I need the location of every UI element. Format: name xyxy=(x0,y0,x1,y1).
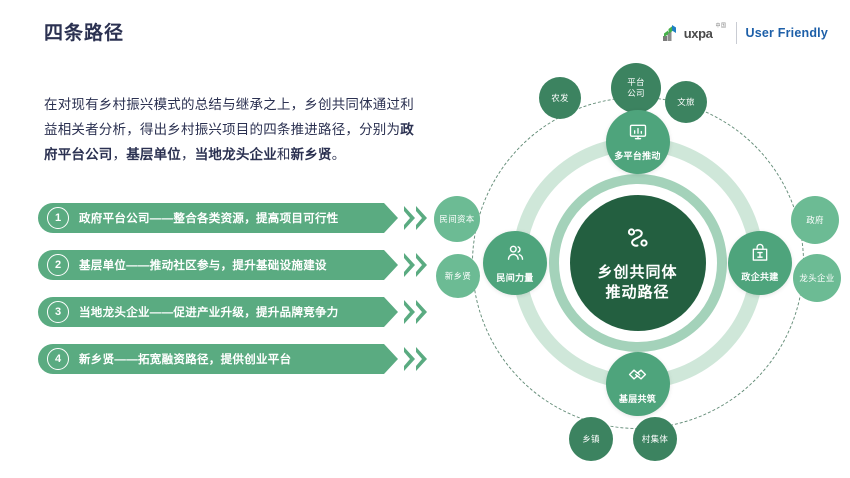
steps-list: 1 政府平台公司——整合各类资源，提高项目可行性 2 基层单位——推动社区参与，… xyxy=(38,203,430,391)
uxpa-wordmark: uxpa xyxy=(684,27,713,40)
step-number-badge: 1 xyxy=(47,207,69,229)
uxpa-cn-text: 中国 xyxy=(715,24,726,30)
pillar-minjian-liliang[interactable]: 民间力量 xyxy=(483,231,547,295)
pillar-label: 基层共筑 xyxy=(619,392,656,405)
diagram-core[interactable]: 乡创共同体 推动路径 xyxy=(570,195,706,331)
node-label: 农发 xyxy=(551,93,569,104)
step-bar[interactable]: 2 基层单位——推动社区参与，提升基础设施建设 xyxy=(38,250,384,280)
node-wenlv[interactable]: 文旅 xyxy=(665,81,707,123)
briefcase-qi-icon xyxy=(750,243,770,268)
intro-bold-2: 基层单位 xyxy=(126,147,181,162)
node-longtou-qiye[interactable]: 龙头企业 xyxy=(793,254,841,302)
core-label-line1: 乡创共同体 xyxy=(597,264,677,281)
network-link-icon xyxy=(623,224,653,259)
pillar-label: 多平台推动 xyxy=(614,149,661,162)
step-chevrons-icon xyxy=(404,347,427,371)
pillar-zhengqi-gongjian[interactable]: 政企共建 xyxy=(728,231,792,295)
brand-divider xyxy=(736,22,737,44)
node-zhengfu[interactable]: 政府 xyxy=(791,196,839,244)
step-bar[interactable]: 4 新乡贤——拓宽融资路径，提供创业平台 xyxy=(38,344,384,374)
handshake-icon xyxy=(627,364,648,390)
step-bar[interactable]: 3 当地龙头企业——促进产业升级，提升品牌竞争力 xyxy=(38,297,384,327)
pillar-label: 民间力量 xyxy=(496,271,533,284)
intro-bold-4: 新乡贤 xyxy=(291,147,332,162)
node-xinxiangxian[interactable]: 新乡贤 xyxy=(436,254,480,298)
intro-paragraph: 在对现有乡村振兴模式的总结与继承之上，乡创共同体通过利益相关者分析，得出乡村振兴… xyxy=(44,93,424,168)
step-label: 政府平台公司——整合各类资源，提高项目可行性 xyxy=(79,210,339,226)
uxpa-blocks-logo-icon xyxy=(661,23,681,43)
people-group-icon xyxy=(505,243,526,269)
step-number-badge: 2 xyxy=(47,254,69,276)
node-label: 乡镇 xyxy=(582,434,600,445)
step-item-4[interactable]: 4 新乡贤——拓宽融资路径，提供创业平台 xyxy=(38,344,430,374)
step-label: 新乡贤——拓宽融资路径，提供创业平台 xyxy=(79,351,291,367)
step-number-badge: 4 xyxy=(47,348,69,370)
chart-monitor-icon xyxy=(628,122,648,147)
intro-sep-2: ， xyxy=(181,147,195,162)
pillar-label: 政企共建 xyxy=(741,270,778,283)
circular-diagram: 农发 平台 公司 文旅 政府 龙头企业 村集体 乡镇 新乡贤 民间资本 xyxy=(425,48,850,478)
intro-line3-prefix: 为 xyxy=(387,122,401,137)
step-chevrons-icon xyxy=(404,253,427,277)
node-label: 政府 xyxy=(806,215,824,226)
node-label: 民间资本 xyxy=(439,214,474,225)
step-item-3[interactable]: 3 当地龙头企业——促进产业升级，提升品牌竞争力 xyxy=(38,297,430,327)
brand-name: User Friendly xyxy=(746,26,829,40)
core-label-line2: 推动路径 xyxy=(605,284,669,301)
intro-sep-1: ， xyxy=(113,147,127,162)
step-bar[interactable]: 1 政府平台公司——整合各类资源，提高项目可行性 xyxy=(38,203,384,233)
intro-mid: 和 xyxy=(277,147,291,162)
node-label-line2: 公司 xyxy=(627,88,645,98)
node-nongfa[interactable]: 农发 xyxy=(539,77,581,119)
intro-suffix: 。 xyxy=(332,147,346,162)
node-label: 新乡贤 xyxy=(445,271,471,282)
node-xiangzhen[interactable]: 乡镇 xyxy=(569,417,613,461)
page-title: 四条路径 xyxy=(44,18,124,45)
node-pingtai-gongsi[interactable]: 平台 公司 xyxy=(611,63,661,113)
step-chevrons-icon xyxy=(404,206,427,230)
step-label: 基层单位——推动社区参与，提升基础设施建设 xyxy=(79,257,327,273)
step-item-2[interactable]: 2 基层单位——推动社区参与，提升基础设施建设 xyxy=(38,250,430,280)
node-minjian-ziben[interactable]: 民间资本 xyxy=(434,196,480,242)
node-label: 村集体 xyxy=(642,434,668,445)
step-chevrons-icon xyxy=(404,300,427,324)
uxpa-logo: uxpa 中国 xyxy=(661,23,727,43)
pillar-duo-pingtai-tuidong[interactable]: 多平台推动 xyxy=(606,110,670,174)
core-label: 乡创共同体 推动路径 xyxy=(597,263,677,303)
pillar-jiceng-gongzhu[interactable]: 基层共筑 xyxy=(606,352,670,416)
intro-line-1: 在对现有乡村振兴模式的总结与继承之上，乡创共同体通过 xyxy=(44,97,400,112)
node-label: 龙头企业 xyxy=(799,273,834,284)
step-number-badge: 3 xyxy=(47,301,69,323)
slide-root: 四条路径 uxpa 中国 User Friendly 在对现有乡村振兴模式的总结… xyxy=(0,0,850,478)
node-label: 文旅 xyxy=(677,97,695,108)
node-cunjiti[interactable]: 村集体 xyxy=(633,417,677,461)
step-label: 当地龙头企业——促进产业升级，提升品牌竞争力 xyxy=(79,304,339,320)
step-item-1[interactable]: 1 政府平台公司——整合各类资源，提高项目可行性 xyxy=(38,203,430,233)
node-label-line1: 平台 xyxy=(627,77,645,87)
brand-lockup: uxpa 中国 User Friendly xyxy=(661,22,828,44)
intro-bold-3: 当地龙头企业 xyxy=(195,147,277,162)
